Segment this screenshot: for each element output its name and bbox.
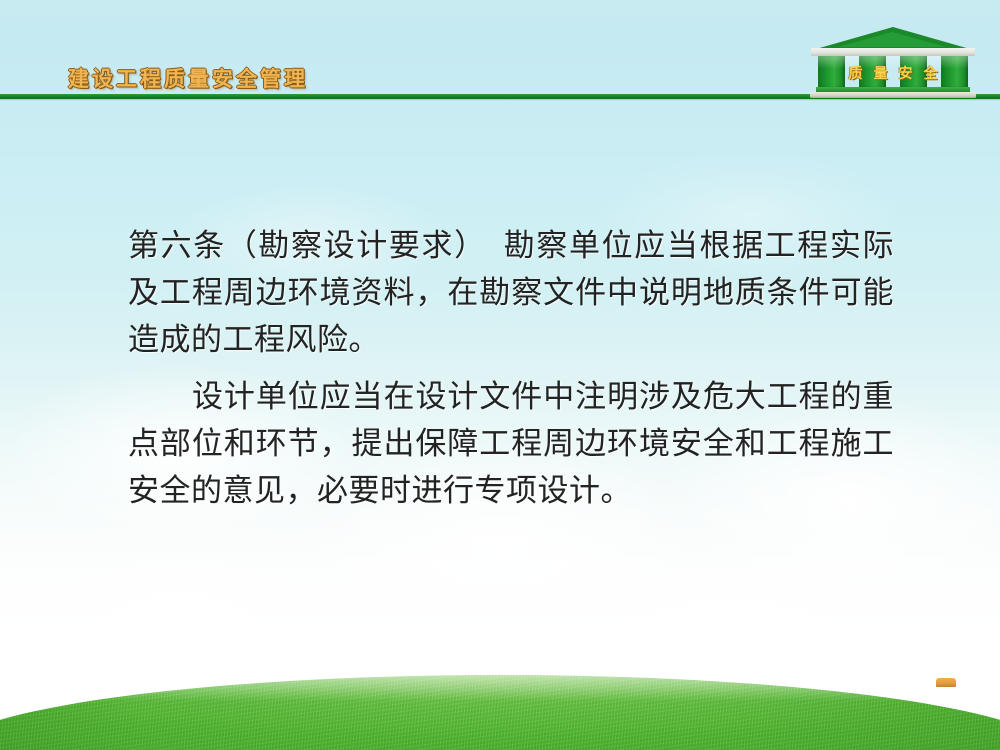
horizon-marker-decoration — [936, 678, 956, 687]
body-paragraph-1: 第六条（勘察设计要求） 勘察单位应当根据工程实际及工程周边环境资料，在勘察文件中… — [128, 222, 894, 363]
presentation-slide: 建设工程质量安全管理 质量安全 第六条（勘察设计要求） 勘察单位应当根据工程实际… — [0, 0, 1000, 750]
page-title: 建设工程质量安全管理 — [68, 63, 308, 93]
quality-safety-temple-logo: 质量安全 — [808, 27, 978, 99]
logo-label: 质量安全 — [818, 63, 968, 83]
temple-roof-highlight-icon — [838, 32, 946, 47]
slide-body: 第六条（勘察设计要求） 勘察单位应当根据工程实际及工程周边环境资料，在勘察文件中… — [128, 222, 894, 514]
temple-base-step-icon — [810, 92, 976, 98]
body-paragraph-2: 设计单位应当在设计文件中注明涉及危大工程的重点部位和环节，提出保障工程周边环境安… — [128, 373, 894, 514]
grass-field-footer — [0, 655, 1000, 750]
temple-entablature-icon — [811, 48, 975, 56]
slide-header: 建设工程质量安全管理 质量安全 — [0, 0, 1000, 100]
grass-field — [0, 675, 1000, 750]
